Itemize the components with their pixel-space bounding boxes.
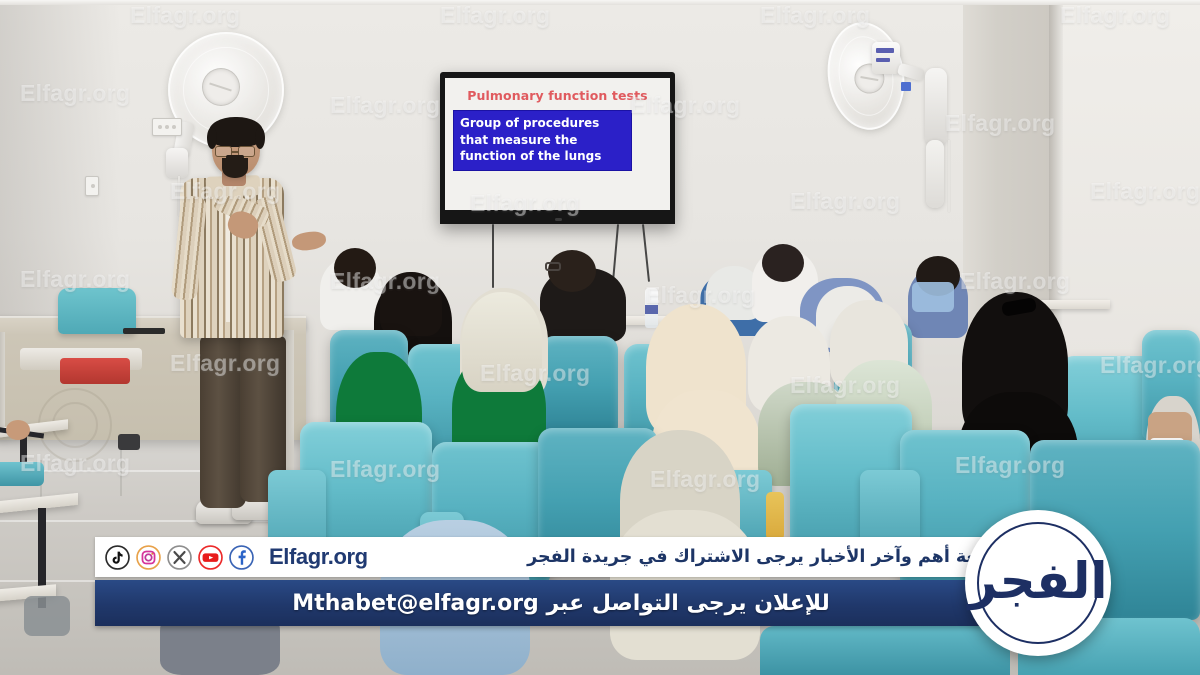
student-head bbox=[548, 250, 596, 292]
banner-blue-bar: للإعلان يرجى التواصل عبر Mthabet@elfagr.… bbox=[95, 580, 1027, 626]
classroom-seat[interactable] bbox=[540, 336, 618, 434]
wall-socket-plate[interactable] bbox=[85, 176, 99, 196]
wall-switch-plate[interactable] bbox=[152, 118, 182, 136]
teacher-beard bbox=[222, 158, 248, 178]
logo-ring: الفجر bbox=[977, 522, 1099, 644]
slide-body-box: Group of procedures that measure the fun… bbox=[453, 110, 632, 171]
phone-on-desk bbox=[123, 328, 165, 334]
desk-leg bbox=[0, 332, 5, 432]
tv-cable bbox=[492, 224, 494, 288]
fan-badge bbox=[876, 48, 894, 53]
banner-white-bar: Elfagr.org لمتابعة أهم وآخر الأخبار يرجى… bbox=[95, 537, 1027, 577]
instagram-icon[interactable] bbox=[136, 545, 161, 570]
student-mask bbox=[912, 282, 954, 312]
tiktok-icon[interactable] bbox=[105, 545, 130, 570]
brand-text: Elfagr.org bbox=[269, 544, 368, 570]
fan-badge bbox=[901, 82, 911, 91]
ceiling-line bbox=[0, 0, 1200, 5]
fan-hub bbox=[202, 68, 240, 106]
youtube-icon[interactable] bbox=[198, 545, 223, 570]
fan-bracket-lower bbox=[926, 140, 944, 208]
desk-foot bbox=[118, 434, 140, 450]
fan-bracket bbox=[166, 148, 188, 178]
water-bottle bbox=[766, 492, 784, 540]
tv-power-led bbox=[555, 218, 562, 221]
bottle-label bbox=[645, 305, 658, 314]
seated-person-hand bbox=[6, 420, 30, 440]
wall-mounted-tv: Pulmonary function tests Group of proced… bbox=[440, 72, 675, 224]
student-headscarf-pattern bbox=[462, 292, 542, 392]
x-icon[interactable] bbox=[167, 545, 192, 570]
social-icons-group: Elfagr.org bbox=[95, 544, 368, 570]
tv-screen: Pulmonary function tests Group of proced… bbox=[445, 78, 670, 210]
facebook-icon[interactable] bbox=[229, 545, 254, 570]
eyeglasses-bridge bbox=[232, 151, 238, 153]
teacher-hair bbox=[209, 117, 263, 147]
student-head bbox=[334, 248, 376, 288]
ad-arabic-prefix: للإعلان يرجى التواصل عبر bbox=[546, 591, 829, 616]
screenshot-root: Pulmonary function tests Group of proced… bbox=[0, 0, 1200, 675]
classroom-seat-front[interactable] bbox=[760, 626, 1010, 675]
side-chair bbox=[0, 462, 44, 486]
elfagr-logo[interactable]: الفجر bbox=[965, 510, 1111, 656]
eyeglasses-icon bbox=[545, 262, 561, 271]
ad-email[interactable]: Mthabet@elfagr.org bbox=[292, 591, 539, 616]
fan-bracket bbox=[925, 68, 947, 146]
red-bag bbox=[60, 358, 130, 384]
slide-title: Pulmonary function tests bbox=[453, 88, 662, 103]
student-head bbox=[762, 244, 804, 282]
promo-banner: Elfagr.org لمتابعة أهم وآخر الأخبار يرجى… bbox=[95, 537, 1110, 627]
student-headscarf bbox=[380, 272, 442, 336]
banner-arabic-subscribe: لمتابعة أهم وآخر الأخبار يرجى الاشتراك ف… bbox=[368, 547, 1027, 567]
seated-person-leg bbox=[24, 596, 70, 636]
fan-badge bbox=[876, 58, 890, 62]
fan-cord bbox=[948, 140, 950, 212]
banner-ad-contact: للإعلان يرجى التواصل عبر Mthabet@elfagr.… bbox=[292, 591, 829, 616]
logo-arabic-text: الفجر bbox=[968, 556, 1107, 606]
